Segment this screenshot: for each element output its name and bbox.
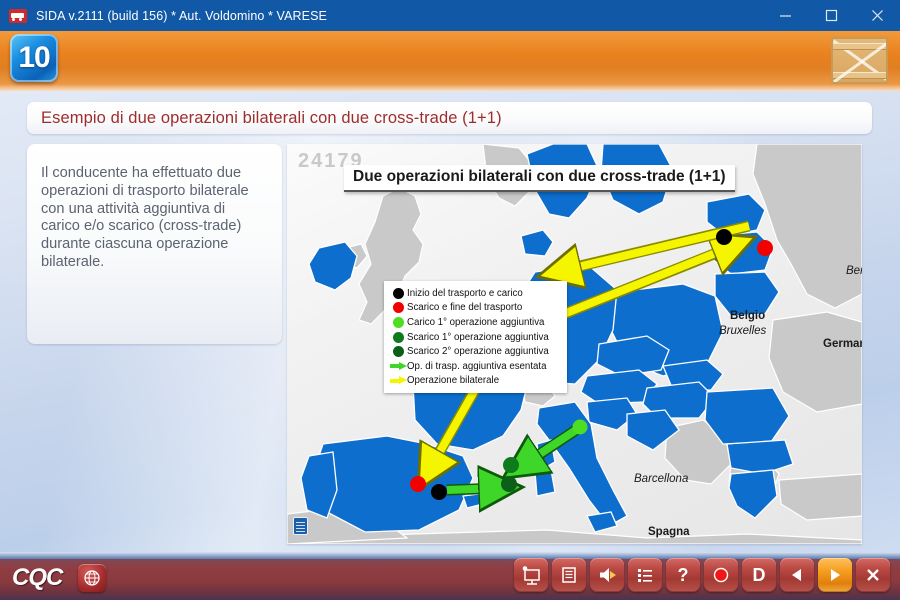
toolbar-buttons: ? D: [514, 558, 890, 592]
map-legend: Inizio del trasporto e carico Scarico e …: [384, 281, 567, 393]
minimize-icon[interactable]: [762, 0, 808, 31]
close-icon[interactable]: [856, 558, 890, 592]
marker-inizio-trasporto-lituania: [716, 229, 732, 245]
marker-scarico-fine-lituania: [757, 240, 773, 256]
marker-inizio-trasporto-barcellona: [431, 484, 447, 500]
window-title: SIDA v.2111 (build 156) * Aut. Voldomino…: [36, 9, 327, 23]
sound-icon[interactable]: [590, 558, 624, 592]
marker-scarico-1-belgio: [503, 457, 519, 473]
legend-item: Scarico 1° operazione aggiuntiva: [389, 330, 561, 345]
next-icon[interactable]: [818, 558, 852, 592]
legend-dot-icon: [389, 317, 407, 328]
legend-item: Carico 1° operazione aggiuntiva: [389, 315, 561, 330]
document-icon[interactable]: [552, 558, 586, 592]
presentation-icon[interactable]: [514, 558, 548, 592]
arrow-esentata-barcellona-belgio: [447, 488, 503, 490]
crate-bar-bottom: [833, 72, 886, 79]
map-graphic: [287, 144, 862, 544]
dictionary-icon[interactable]: D: [742, 558, 776, 592]
legend-dot-icon: [389, 302, 407, 313]
application-window: SIDA v.2111 (build 156) * Aut. Voldomino…: [0, 0, 900, 600]
previous-icon[interactable]: [780, 558, 814, 592]
map-label-bruxelles: Bruxelles: [719, 325, 766, 337]
title-bar: SIDA v.2111 (build 156) * Aut. Voldomino…: [0, 0, 900, 31]
legend-item: Inizio del trasporto e carico: [389, 286, 561, 301]
marker-scarico-2-belgio: [501, 476, 517, 492]
globe-icon[interactable]: [78, 564, 106, 592]
legend-arrow-yellow-icon: [389, 376, 407, 385]
dictionary-label: D: [753, 566, 766, 584]
map-label-belgio: Belgio: [730, 310, 765, 322]
page-header: [0, 31, 900, 91]
close-icon[interactable]: [854, 0, 900, 31]
legend-label: Operazione bilaterale: [407, 375, 499, 386]
help-label: ?: [678, 566, 689, 584]
maximize-icon[interactable]: [808, 0, 854, 31]
legend-item: Scarico 2° operazione aggiuntiva: [389, 344, 561, 359]
legend-item: Op. di trasp. aggiuntiva esentata: [389, 359, 561, 374]
legend-label: Inizio del trasporto e carico: [407, 288, 523, 299]
marker-carico-1-berlino: [573, 420, 588, 435]
section-banner-label: Esempio di due operazioni bilaterali con…: [41, 109, 502, 128]
section-banner: Esempio di due operazioni bilaterali con…: [27, 102, 872, 134]
list-icon[interactable]: [628, 558, 662, 592]
legend-label: Scarico 2° operazione aggiuntiva: [407, 346, 549, 357]
legend-dot-icon: [389, 332, 407, 343]
cqc-logo: CQC: [12, 564, 62, 592]
legend-label: Scarico 1° operazione aggiuntiva: [407, 332, 549, 343]
crate-icon: [831, 37, 888, 84]
legend-item: Scarico e fine del trasporto: [389, 301, 561, 316]
bottom-toolbar: CQC: [0, 552, 900, 600]
marker-scarico-fine-barcellona: [410, 476, 426, 492]
eu-flag-badge-icon: [293, 517, 308, 535]
legend-item: Operazione bilaterale: [389, 374, 561, 389]
legend-label: Op. di trasp. aggiuntiva esentata: [407, 361, 546, 372]
map-label-barcellona: Barcellona: [634, 473, 688, 485]
chapter-number: 10: [18, 43, 49, 73]
description-text: Il conducente ha effettuato due operazio…: [41, 165, 268, 272]
truck-icon: [9, 9, 27, 23]
crate-bar-top: [833, 43, 886, 50]
map-label-germania: Germania: [823, 338, 862, 350]
legend-dot-icon: [389, 346, 407, 357]
description-panel: Il conducente ha effettuato due operazio…: [27, 144, 282, 344]
map-title: Due operazioni bilaterali con due cross-…: [344, 165, 735, 192]
legend-dot-icon: [389, 288, 407, 299]
legend-label: Carico 1° operazione aggiuntiva: [407, 317, 544, 328]
map-label-spagna: Spagna: [648, 526, 690, 538]
help-icon[interactable]: ?: [666, 558, 700, 592]
legend-label: Scarico e fine del trasporto: [407, 302, 522, 313]
map-illustration: 24179 Due operazioni bilaterali con due …: [287, 144, 862, 544]
map-label-berlino: Berlino: [846, 265, 862, 277]
chapter-badge: 10: [10, 34, 58, 82]
record-icon[interactable]: [704, 558, 738, 592]
legend-arrow-green-icon: [389, 362, 407, 371]
